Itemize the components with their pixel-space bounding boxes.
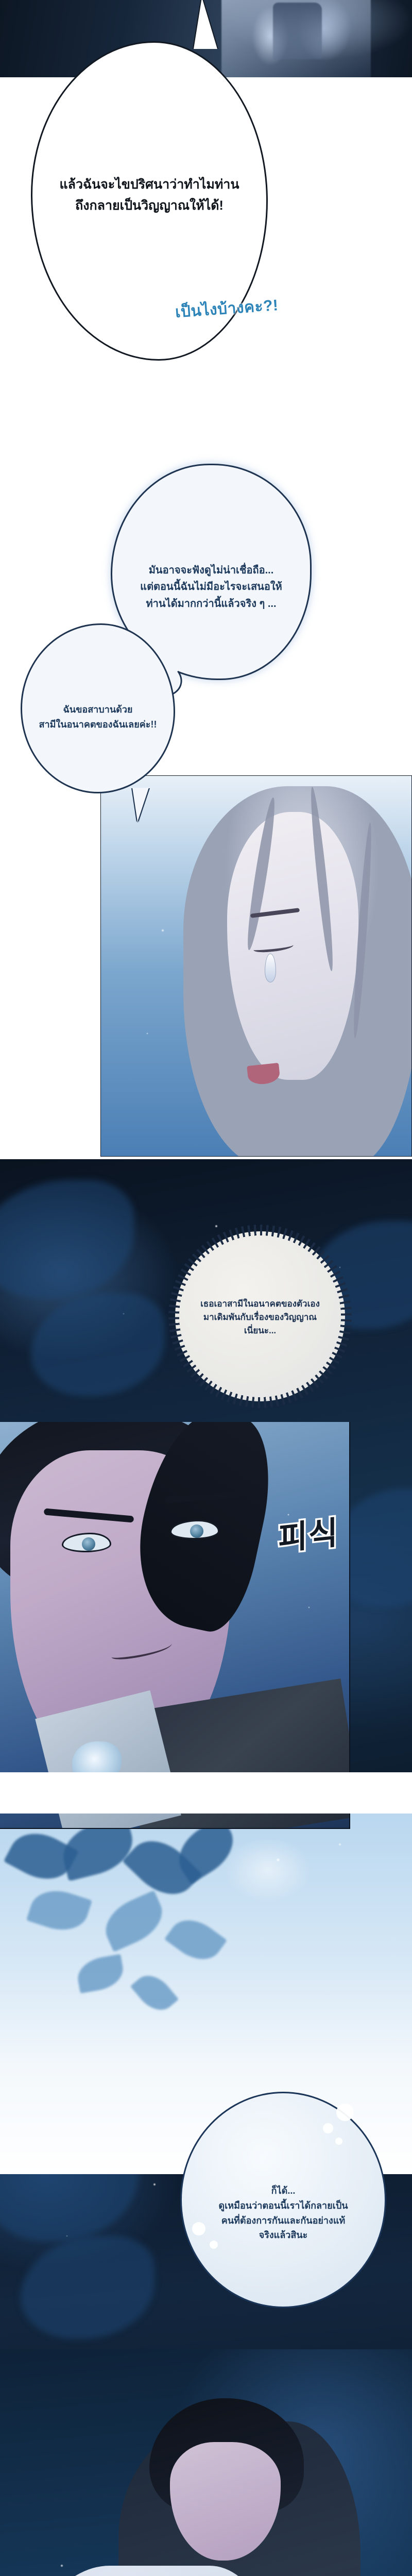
balloon-line-1: เธอเอาสามีในอนาคตของตัวเอง	[179, 1297, 341, 1311]
balloon-line-1: ก็ได้...	[193, 2183, 373, 2198]
leaf-shape	[130, 1968, 179, 2018]
foam-bubble	[323, 2123, 333, 2133]
balloon-line-3: คนที่ต้องการกันและกันอย่างแท้	[193, 2213, 373, 2228]
speech-balloon-round-2: ฉันขอสาบานด้วย สามีในอนาคตของฉันเลยค่ะ!!	[21, 623, 175, 793]
balloon-text: เธอเอาสามีในอนาคตของตัวเอง มาเดิมพันกับเ…	[175, 1297, 345, 1337]
leaf-shape	[97, 1890, 170, 1952]
blurred-figure	[221, 0, 371, 77]
balloon-line-2: มาเดิมพันกับเรื่องของวิญญาณ	[179, 1311, 341, 1324]
leaf-shape	[75, 1954, 126, 1994]
panel-man-closeup	[0, 1422, 350, 1829]
foam-bubble	[336, 2104, 354, 2121]
balloon-tail	[132, 788, 149, 822]
sfx-snort: 피식	[278, 1506, 338, 1560]
balloon-line-4: จริงแล้วสินะ	[193, 2228, 373, 2243]
balloon-line-1: ฉันขอสาบานด้วย	[28, 702, 167, 717]
foam-bubble	[335, 2138, 342, 2145]
foliage-shape	[0, 1180, 134, 1298]
balloon-line-2: แต่ตอนนี้ฉันไม่มีอะไรจะเสนอให้	[121, 579, 302, 595]
thought-balloon-jagged: เธอเอาสามีในอนาคตของตัวเอง มาเดิมพันกับเ…	[175, 1231, 345, 1401]
balloon-line-3: เนี่ยนะ...	[179, 1324, 341, 1337]
balloon-line-2: สามีในอนาคตของฉันเลยค่ะ!!	[28, 717, 167, 732]
balloon-line-1: มันอาจจะฟังดูไม่น่าเชื่อถือ...	[121, 562, 302, 579]
balloon-text: แล้วฉันจะไขปริศนาว่าทำไมท่าน ถึงกลายเป็น…	[32, 174, 266, 216]
foliage-shape	[31, 1293, 165, 1396]
leaf-shape	[26, 1883, 92, 1938]
speech-balloon-round-3: ก็ได้... ดูเหมือนว่าตอนนี้เราได้กลายเป็น…	[180, 2092, 386, 2308]
balloon-text: ฉันขอสาบานด้วย สามีในอนาคตของฉันเลยค่ะ!!	[22, 702, 174, 732]
balloon-text: มันอาจจะฟังดูไม่น่าเชื่อถือ... แต่ตอนนี้…	[112, 562, 310, 612]
balloon-line-2: ถึงกลายเป็นวิญญาณให้ได้!	[50, 195, 249, 216]
panel-gutter	[0, 1772, 412, 1814]
balloon-line-2: ดูเหมือนว่าตอนนี้เราได้กลายเป็น	[193, 2198, 373, 2213]
foliage-shape	[21, 2236, 154, 2339]
balloon-tail	[194, 0, 217, 49]
balloon-text: ก็ได้... ดูเหมือนว่าตอนนี้เราได้กลายเป็น…	[182, 2183, 385, 2243]
balloon-line-1: แล้วฉันจะไขปริศนาว่าทำไมท่าน	[50, 174, 249, 195]
comic-page: แล้วฉันจะไขปริศนาว่าทำไมท่าน ถึงกลายเป็น…	[0, 0, 412, 2576]
balloon-line-3: ท่านได้มากกว่านี้แล้วจริง ๆ ...	[121, 596, 302, 612]
panel-girl-closeup	[100, 775, 412, 1157]
leaf-shape	[164, 1910, 227, 1969]
